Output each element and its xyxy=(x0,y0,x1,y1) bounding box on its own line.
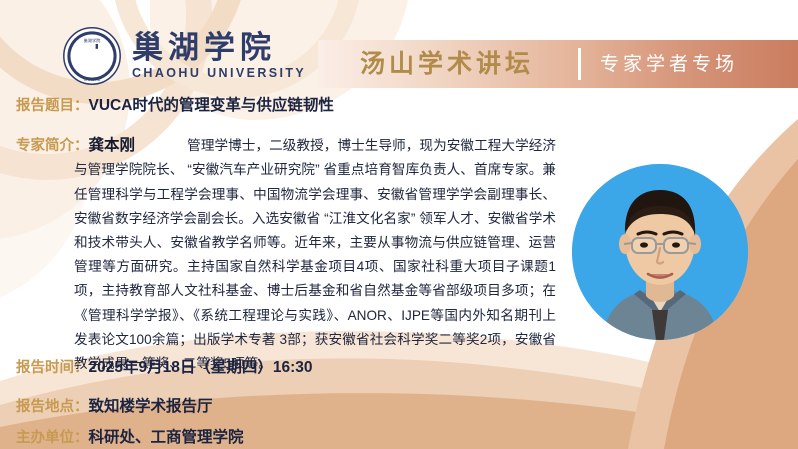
logo-name-cn: 巢湖学院 xyxy=(132,31,306,65)
organizer-value: 科研处、工商管理学院 xyxy=(89,429,244,446)
organizer-label: 主办单位： xyxy=(16,430,89,446)
speaker-bio: 专家简介：龚本刚 专家简介：龚本刚 管理学博士，二级教授，博士生导师，现为安徽工… xyxy=(16,134,556,376)
detail-row-place: 报告地点：致知楼学术报告厅 xyxy=(16,397,213,417)
place-value: 致知楼学术报告厅 xyxy=(89,398,213,415)
banner-title: 汤山学术讲坛 xyxy=(360,48,534,80)
bio-text: 管理学博士，二级教授，博士生导师，现为安徽工程大学经济与管理学院院长、 “安徽汽… xyxy=(74,138,556,371)
speaker-portrait xyxy=(572,164,748,340)
time-label: 报告时间： xyxy=(16,360,89,376)
report-title-label: 报告题目： xyxy=(16,98,89,114)
logo-name-en: CHAOHU UNIVERSITY xyxy=(132,66,306,81)
detail-row-organizer: 主办单位：科研处、工商管理学院 xyxy=(16,428,244,448)
university-logo: 巢湖学院 CHAOHU 巢湖学院 CHAOHU UNIVERSITY xyxy=(62,26,306,86)
lecture-poster: 巢湖学院 CHAOHU 巢湖学院 CHAOHU UNIVERSITY 汤山学术讲… xyxy=(0,0,798,449)
time-value: 2025年9月18日（星期四）16:30 xyxy=(89,359,313,376)
report-title-value: VUCA时代的管理变革与供应链韧性 xyxy=(89,97,334,114)
detail-row-time: 报告时间：2025年9月18日（星期四）16:30 xyxy=(16,358,313,378)
banner-subtitle: 专家学者专场 xyxy=(600,52,738,78)
chaohu-university-seal-icon: 巢湖学院 CHAOHU xyxy=(62,26,122,86)
place-label: 报告地点： xyxy=(16,399,89,415)
banner-divider xyxy=(578,48,581,80)
report-title-row: 报告题目：VUCA时代的管理变革与供应链韧性 xyxy=(16,96,334,116)
svg-text:CHAOHU: CHAOHU xyxy=(84,77,101,82)
speaker-portrait-image xyxy=(572,164,748,340)
svg-text:巢湖学院: 巢湖学院 xyxy=(84,37,102,44)
